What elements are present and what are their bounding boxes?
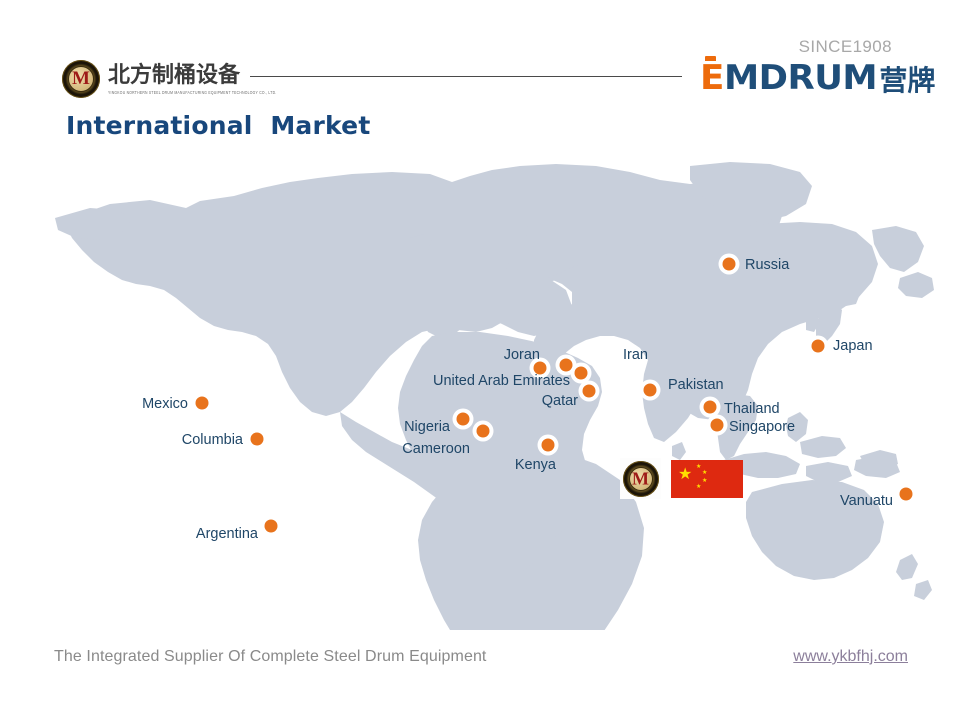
- medallion-letter: M: [62, 69, 100, 88]
- flag-star-small-1: ★: [696, 464, 701, 470]
- emdrum-wordmark: MDRUM: [724, 61, 877, 95]
- map-label-iran: Iran: [623, 348, 648, 363]
- emdrum-e-letter: E: [700, 61, 723, 95]
- world-map: M ★ ★ ★ ★ ★ MexicoColumbiaArgentinaNiger…: [0, 160, 960, 630]
- map-marker-vanuatu[interactable]: [900, 488, 913, 501]
- page-footer: The Integrated Supplier Of Complete Stee…: [0, 648, 960, 688]
- emdrum-e-mark: E: [700, 61, 722, 95]
- map-label-thailand: Thailand: [724, 402, 780, 417]
- map-marker-nigeria[interactable]: [457, 413, 470, 426]
- map-label-argentina: Argentina: [196, 527, 258, 542]
- header-divider: [250, 76, 682, 77]
- map-marker-qatar[interactable]: [583, 385, 596, 398]
- map-marker-thailand[interactable]: [704, 401, 717, 414]
- map-marker-argentina[interactable]: [265, 520, 278, 533]
- map-label-mexico: Mexico: [142, 397, 188, 412]
- company-name-english-subline: YINGKOU NORTHERN STEEL DRUM MANUFACTURIN…: [108, 90, 276, 95]
- china-flag-icon: ★ ★ ★ ★ ★: [671, 460, 743, 498]
- map-marker-russia[interactable]: [723, 258, 736, 271]
- map-label-pakistan: Pakistan: [668, 378, 724, 393]
- medallion-icon-map: M: [623, 461, 659, 497]
- map-marker-singapore[interactable]: [711, 419, 724, 432]
- page-header: M 北方制桶设备 YINGKOU NORTHERN STEEL DRUM MAN…: [0, 0, 960, 105]
- flag-star-small-3: ★: [702, 478, 707, 484]
- map-marker-pakistan[interactable]: [644, 384, 657, 397]
- since-text: SINCE1908: [799, 37, 892, 57]
- map-marker-columbia[interactable]: [251, 433, 264, 446]
- flag-star-large: ★: [678, 467, 692, 483]
- map-marker-mexico[interactable]: [196, 397, 209, 410]
- map-label-columbia: Columbia: [182, 433, 243, 448]
- map-label-japan: Japan: [833, 339, 873, 354]
- footer-tagline: The Integrated Supplier Of Complete Stee…: [54, 648, 486, 666]
- map-label-kenya: Kenya: [515, 458, 556, 473]
- map-label-united-arab-emirates: United Arab Emirates: [433, 374, 570, 389]
- flag-star-small-4: ★: [696, 484, 701, 490]
- map-label-russia: Russia: [745, 258, 789, 273]
- map-marker-cameroon[interactable]: [477, 425, 490, 438]
- emdrum-chinese-mark: 营牌: [879, 67, 935, 95]
- medallion-icon: M: [62, 60, 100, 98]
- china-badge: M: [620, 458, 661, 499]
- footer-website-link[interactable]: www.ykbfhj.com: [793, 648, 908, 666]
- map-label-qatar: Qatar: [542, 394, 578, 409]
- medallion-letter-map: M: [623, 469, 659, 487]
- map-marker-iran[interactable]: [575, 367, 588, 380]
- map-label-singapore: Singapore: [729, 420, 795, 435]
- map-marker-japan[interactable]: [812, 340, 825, 353]
- map-label-cameroon: Cameroon: [402, 442, 470, 457]
- map-label-nigeria: Nigeria: [404, 420, 450, 435]
- map-marker-kenya[interactable]: [542, 439, 555, 452]
- company-logo: M 北方制桶设备 YINGKOU NORTHERN STEEL DRUM MAN…: [62, 60, 276, 98]
- page-title: International Market: [66, 111, 370, 140]
- emdrum-brand-logo: E MDRUM 营牌: [700, 61, 935, 95]
- map-label-joran: Joran: [504, 348, 540, 363]
- map-marker-united-arab-emirates[interactable]: [560, 359, 573, 372]
- map-label-vanuatu: Vanuatu: [840, 494, 893, 509]
- flag-star-small-2: ★: [702, 470, 707, 476]
